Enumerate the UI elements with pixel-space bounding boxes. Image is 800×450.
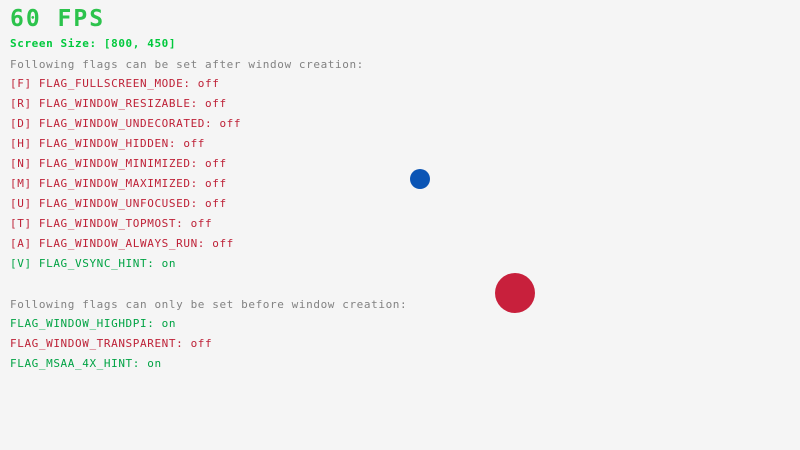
blue-ball-shape bbox=[410, 169, 430, 189]
section-header-after-creation: Following flags can be set after window … bbox=[10, 59, 364, 70]
red-ball-shape bbox=[495, 273, 535, 313]
flag-row-flag-window-highdpi[interactable]: FLAG_WINDOW_HIGHDPI: on bbox=[10, 318, 176, 329]
screen-size-label: Screen Size: [800, 450] bbox=[10, 38, 176, 49]
flag-row-flag-window-minimized[interactable]: [N] FLAG_WINDOW_MINIMIZED: off bbox=[10, 158, 227, 169]
flag-row-flag-msaa-4x-hint[interactable]: FLAG_MSAA_4X_HINT: on bbox=[10, 358, 162, 369]
flag-row-flag-window-transparent[interactable]: FLAG_WINDOW_TRANSPARENT: off bbox=[10, 338, 212, 349]
flag-row-flag-window-resizable[interactable]: [R] FLAG_WINDOW_RESIZABLE: off bbox=[10, 98, 227, 109]
flag-row-flag-window-hidden[interactable]: [H] FLAG_WINDOW_HIDDEN: off bbox=[10, 138, 205, 149]
flag-row-flag-fullscreen-mode[interactable]: [F] FLAG_FULLSCREEN_MODE: off bbox=[10, 78, 219, 89]
flag-row-flag-window-maximized[interactable]: [M] FLAG_WINDOW_MAXIMIZED: off bbox=[10, 178, 227, 189]
flag-row-flag-vsync-hint[interactable]: [V] FLAG_VSYNC_HINT: on bbox=[10, 258, 176, 269]
section-header-before-creation: Following flags can only be set before w… bbox=[10, 299, 407, 310]
fps-counter: 60 FPS bbox=[10, 8, 105, 31]
raylib-window-canvas: 60 FPS Screen Size: [800, 450] Following… bbox=[0, 0, 800, 450]
flag-row-flag-window-always-run[interactable]: [A] FLAG_WINDOW_ALWAYS_RUN: off bbox=[10, 238, 234, 249]
flag-row-flag-window-topmost[interactable]: [T] FLAG_WINDOW_TOPMOST: off bbox=[10, 218, 212, 229]
flag-row-flag-window-undecorated[interactable]: [D] FLAG_WINDOW_UNDECORATED: off bbox=[10, 118, 241, 129]
flag-row-flag-window-unfocused[interactable]: [U] FLAG_WINDOW_UNFOCUSED: off bbox=[10, 198, 227, 209]
